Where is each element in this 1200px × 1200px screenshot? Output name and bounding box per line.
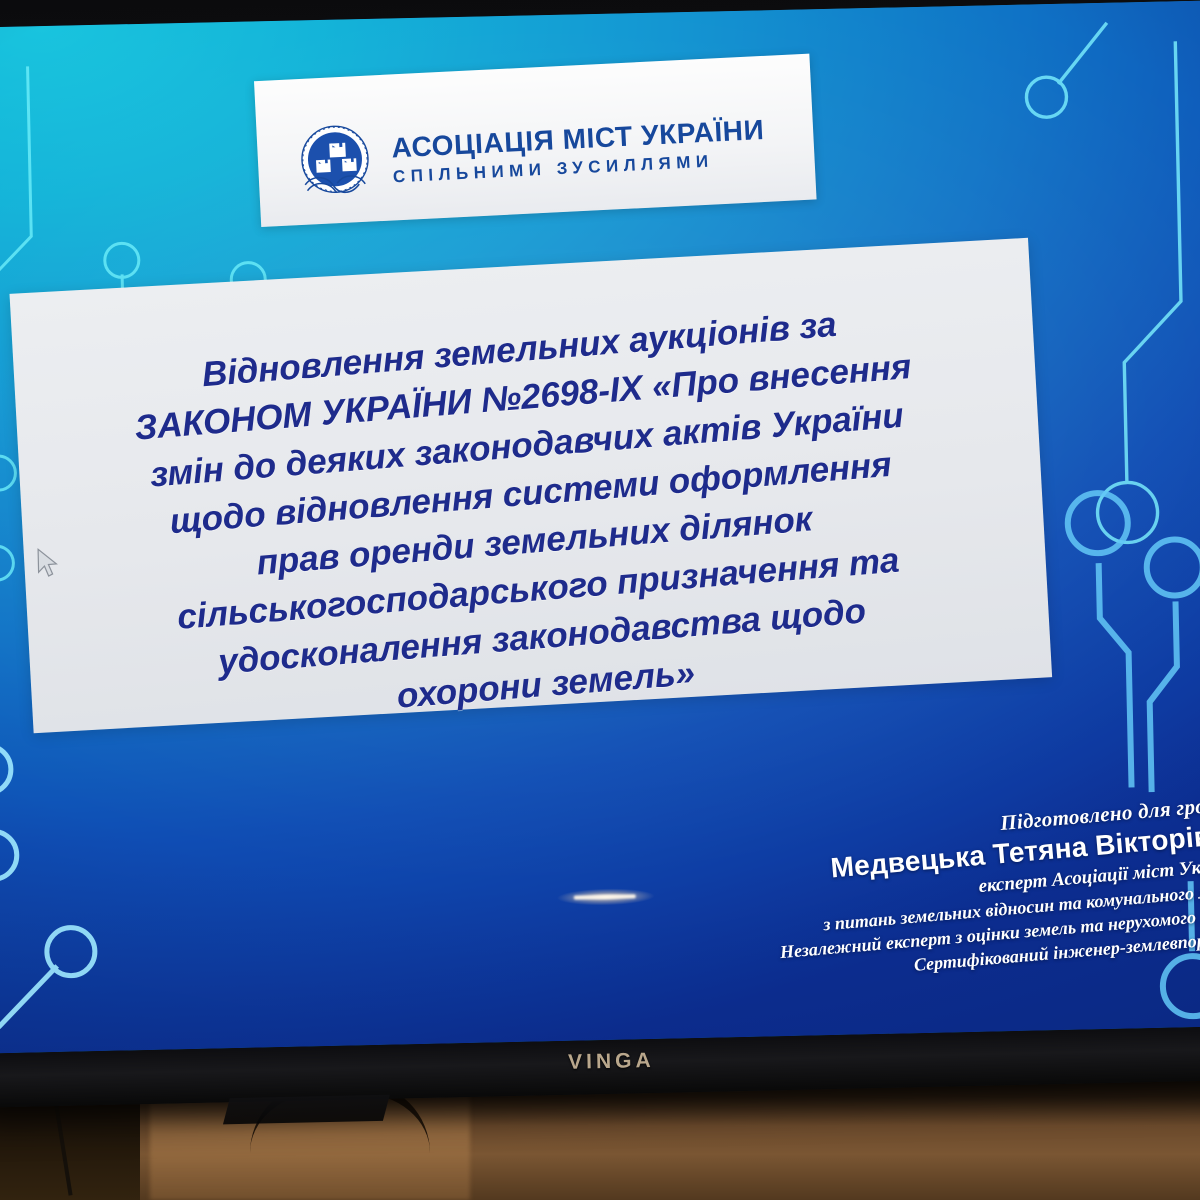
photo-scene: АСОЦІАЦІЯ МІСТ УКРАЇНИ СПІЛЬНИМИ ЗУСИЛЛЯ… [0, 0, 1200, 1200]
tv-stand-foot [223, 1095, 390, 1125]
logo-text-block: АСОЦІАЦІЯ МІСТ УКРАЇНИ СПІЛЬНИМИ ЗУСИЛЛЯ… [391, 115, 766, 187]
logo-row: АСОЦІАЦІЯ МІСТ УКРАЇНИ СПІЛЬНИМИ ЗУСИЛЛЯ… [290, 100, 767, 207]
mouse-cursor-arrow [36, 548, 59, 580]
tv-brand-label: VINGA [568, 1049, 655, 1075]
slide-title: Відновлення земельних аукціонів за ЗАКОН… [14, 286, 1051, 748]
presentation-slide: АСОЦІАЦІЯ МІСТ УКРАЇНИ СПІЛЬНИМИ ЗУСИЛЛЯ… [0, 1, 1200, 1054]
tv-screen: АСОЦІАЦІЯ МІСТ УКРАЇНИ СПІЛЬНИМИ ЗУСИЛЛЯ… [0, 1, 1200, 1054]
logo-panel: АСОЦІАЦІЯ МІСТ УКРАЇНИ СПІЛЬНИМИ ЗУСИЛЛЯ… [254, 54, 817, 227]
association-of-ukrainian-cities-emblem [290, 119, 380, 207]
television: АСОЦІАЦІЯ МІСТ УКРАЇНИ СПІЛЬНИМИ ЗУСИЛЛЯ… [0, 0, 1200, 1108]
